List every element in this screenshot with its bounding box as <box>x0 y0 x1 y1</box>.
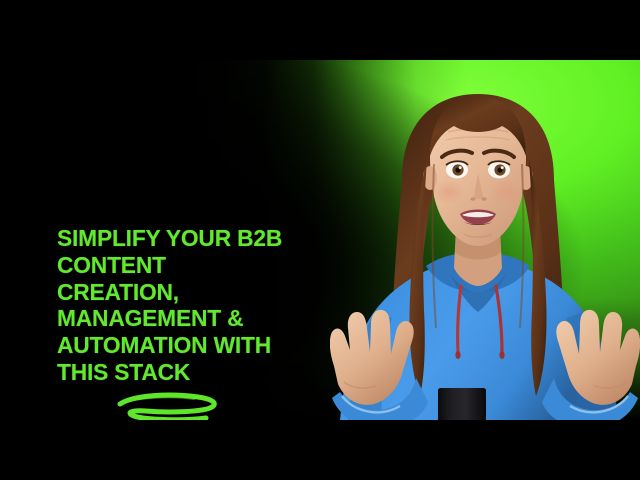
headline-line-6: THIS STACK <box>57 359 348 386</box>
microphone <box>414 388 510 420</box>
letterbox-bar-bottom <box>0 420 640 480</box>
headline-line-5: AUTOMATION WITH <box>57 332 348 359</box>
hand-drawn-swirl-underline-icon <box>112 390 227 420</box>
video-frame: SIMPLIFY YOUR B2B CONTENT CREATION, MANA… <box>0 60 640 420</box>
mouth <box>460 210 496 226</box>
headline-text: SIMPLIFY YOUR B2B CONTENT CREATION, MANA… <box>57 225 357 386</box>
mic-windscreen <box>438 388 486 420</box>
video-thumbnail: SIMPLIFY YOUR B2B CONTENT CREATION, MANA… <box>0 0 640 480</box>
presenter-figure <box>330 60 640 420</box>
headline-line-1: SIMPLIFY YOUR B2B <box>57 225 348 252</box>
headline-line-3: CREATION, <box>57 279 348 306</box>
letterbox-bar-top <box>0 0 640 60</box>
headline-line-4: MANAGEMENT & <box>57 305 348 332</box>
headline-line-2: CONTENT <box>57 252 348 279</box>
